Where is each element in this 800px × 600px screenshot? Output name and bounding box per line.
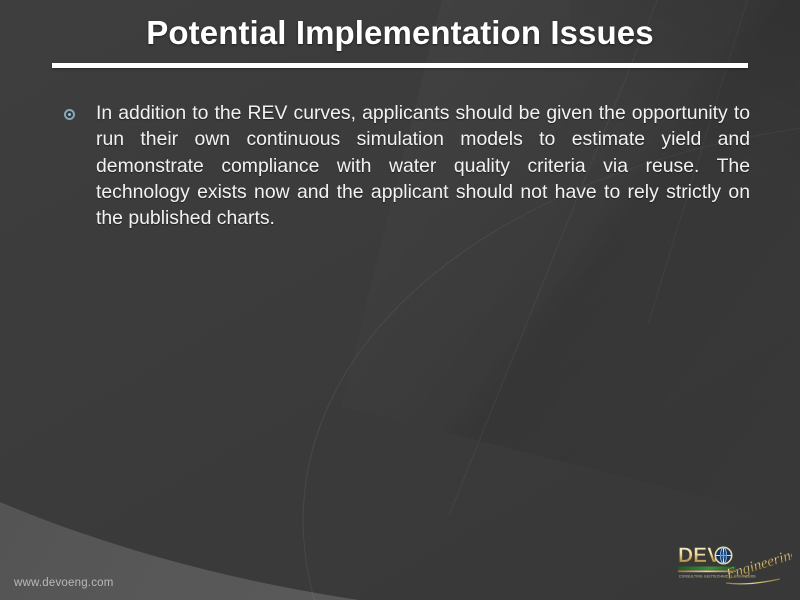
devo-engineering-logo: DEV CONSULTING GEOTECHNICAL ENGINEERS En… <box>676 539 792 591</box>
svg-text:Engineering: Engineering <box>724 546 792 583</box>
ring-bullet-icon <box>64 109 75 120</box>
footer-website-url: www.devoeng.com <box>14 577 114 589</box>
slide: Potential Implementation Issues In addit… <box>0 0 800 600</box>
page-title: Potential Implementation Issues <box>0 14 800 52</box>
logo-script: Engineering <box>724 546 792 583</box>
title-divider <box>52 63 748 68</box>
bullet-text: In addition to the REV curves, applicant… <box>96 100 750 231</box>
background-dark-ellipse <box>0 0 800 600</box>
background-curve-layer <box>0 0 800 600</box>
globe-icon <box>715 547 731 563</box>
bullet-list-item: In addition to the REV curves, applicant… <box>64 100 750 231</box>
